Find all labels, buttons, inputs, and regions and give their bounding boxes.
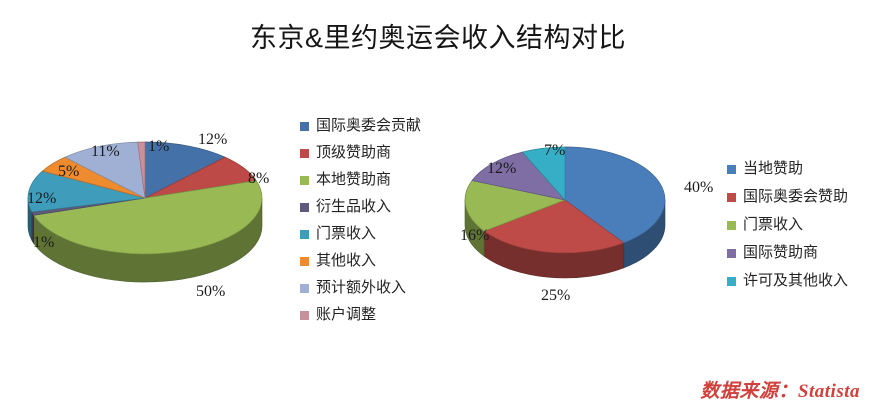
pie-percent-label-rio-0: 40% (684, 179, 713, 197)
legend-tokyo-item[interactable]: 预计额外收入 (300, 275, 421, 302)
pie-chart-rio (455, 108, 720, 313)
source-watermark: 数据来源：Statista (700, 376, 860, 403)
legend-rio-item[interactable]: 门票收入 (727, 211, 848, 239)
pie-percent-label-tokyo-2: 50% (196, 283, 225, 301)
legend-swatch-icon (300, 230, 309, 239)
pie-percent-label-rio-1: 25% (541, 287, 570, 305)
pie-percent-label-tokyo-5: 5% (58, 163, 79, 181)
pie-chart-tokyo (18, 98, 308, 323)
pie-percent-label-tokyo-0: 12% (198, 131, 227, 149)
legend-tokyo-item[interactable]: 国际奥委会贡献 (300, 113, 421, 140)
pie-percent-label-rio-4: 7% (544, 142, 565, 160)
legend-tokyo-item[interactable]: 本地赞助商 (300, 167, 421, 194)
legend-swatch-icon (300, 257, 309, 266)
legend-rio-item[interactable]: 国际赞助商 (727, 239, 848, 267)
legend-rio-label: 许可及其他收入 (743, 274, 848, 289)
legend-tokyo-item[interactable]: 顶级赞助商 (300, 140, 421, 167)
legend-swatch-icon (727, 277, 736, 286)
legend-swatch-icon (727, 193, 736, 202)
legend-swatch-icon (300, 122, 309, 131)
chart-page: 东京&里约奥运会收入结构对比 12%8%50%1%12%5%11%1% 40%2… (0, 0, 876, 415)
legend-tokyo-label: 本地赞助商 (316, 173, 391, 188)
legend-tokyo-label: 预计额外收入 (316, 281, 406, 296)
legend-tokyo-label: 衍生品收入 (316, 200, 391, 215)
pie-percent-label-tokyo-6: 11% (91, 143, 120, 161)
legend-rio-item[interactable]: 当地赞助 (727, 155, 848, 183)
pie-percent-label-tokyo-4: 12% (27, 190, 56, 208)
legend-tokyo-item[interactable]: 衍生品收入 (300, 194, 421, 221)
pie-percent-label-tokyo-3: 1% (33, 234, 54, 252)
pie-percent-label-tokyo-7: 1% (148, 138, 169, 156)
legend-swatch-icon (300, 311, 309, 320)
legend-tokyo: 国际奥委会贡献顶级赞助商本地赞助商衍生品收入门票收入其他收入预计额外收入账户调整 (300, 113, 421, 329)
legend-rio-label: 门票收入 (743, 218, 803, 233)
legend-tokyo-label: 门票收入 (316, 227, 376, 242)
legend-rio-label: 国际奥委会赞助 (743, 190, 848, 205)
legend-swatch-icon (300, 284, 309, 293)
legend-rio-item[interactable]: 许可及其他收入 (727, 267, 848, 295)
pie-percent-label-rio-2: 16% (460, 227, 489, 245)
legend-tokyo-item[interactable]: 账户调整 (300, 302, 421, 329)
legend-swatch-icon (300, 176, 309, 185)
legend-tokyo-item[interactable]: 其他收入 (300, 248, 421, 275)
legend-tokyo-label: 其他收入 (316, 254, 376, 269)
legend-swatch-icon (727, 221, 736, 230)
pie-percent-label-tokyo-1: 8% (248, 170, 269, 188)
legend-swatch-icon (300, 149, 309, 158)
legend-rio-label: 国际赞助商 (743, 246, 818, 261)
legend-swatch-icon (727, 249, 736, 258)
legend-swatch-icon (727, 165, 736, 174)
legend-tokyo-label: 顶级赞助商 (316, 146, 391, 161)
pie-chart-tokyo-svg (18, 98, 308, 323)
pie-percent-label-rio-3: 12% (487, 160, 516, 178)
legend-tokyo-label: 国际奥委会贡献 (316, 119, 421, 134)
legend-rio-label: 当地赞助 (743, 162, 803, 177)
legend-tokyo-item[interactable]: 门票收入 (300, 221, 421, 248)
page-title: 东京&里约奥运会收入结构对比 (0, 16, 876, 55)
legend-swatch-icon (300, 203, 309, 212)
legend-tokyo-label: 账户调整 (316, 308, 376, 323)
legend-rio-item[interactable]: 国际奥委会赞助 (727, 183, 848, 211)
pie-chart-rio-svg (455, 108, 720, 313)
legend-rio: 当地赞助国际奥委会赞助门票收入国际赞助商许可及其他收入 (727, 155, 848, 295)
